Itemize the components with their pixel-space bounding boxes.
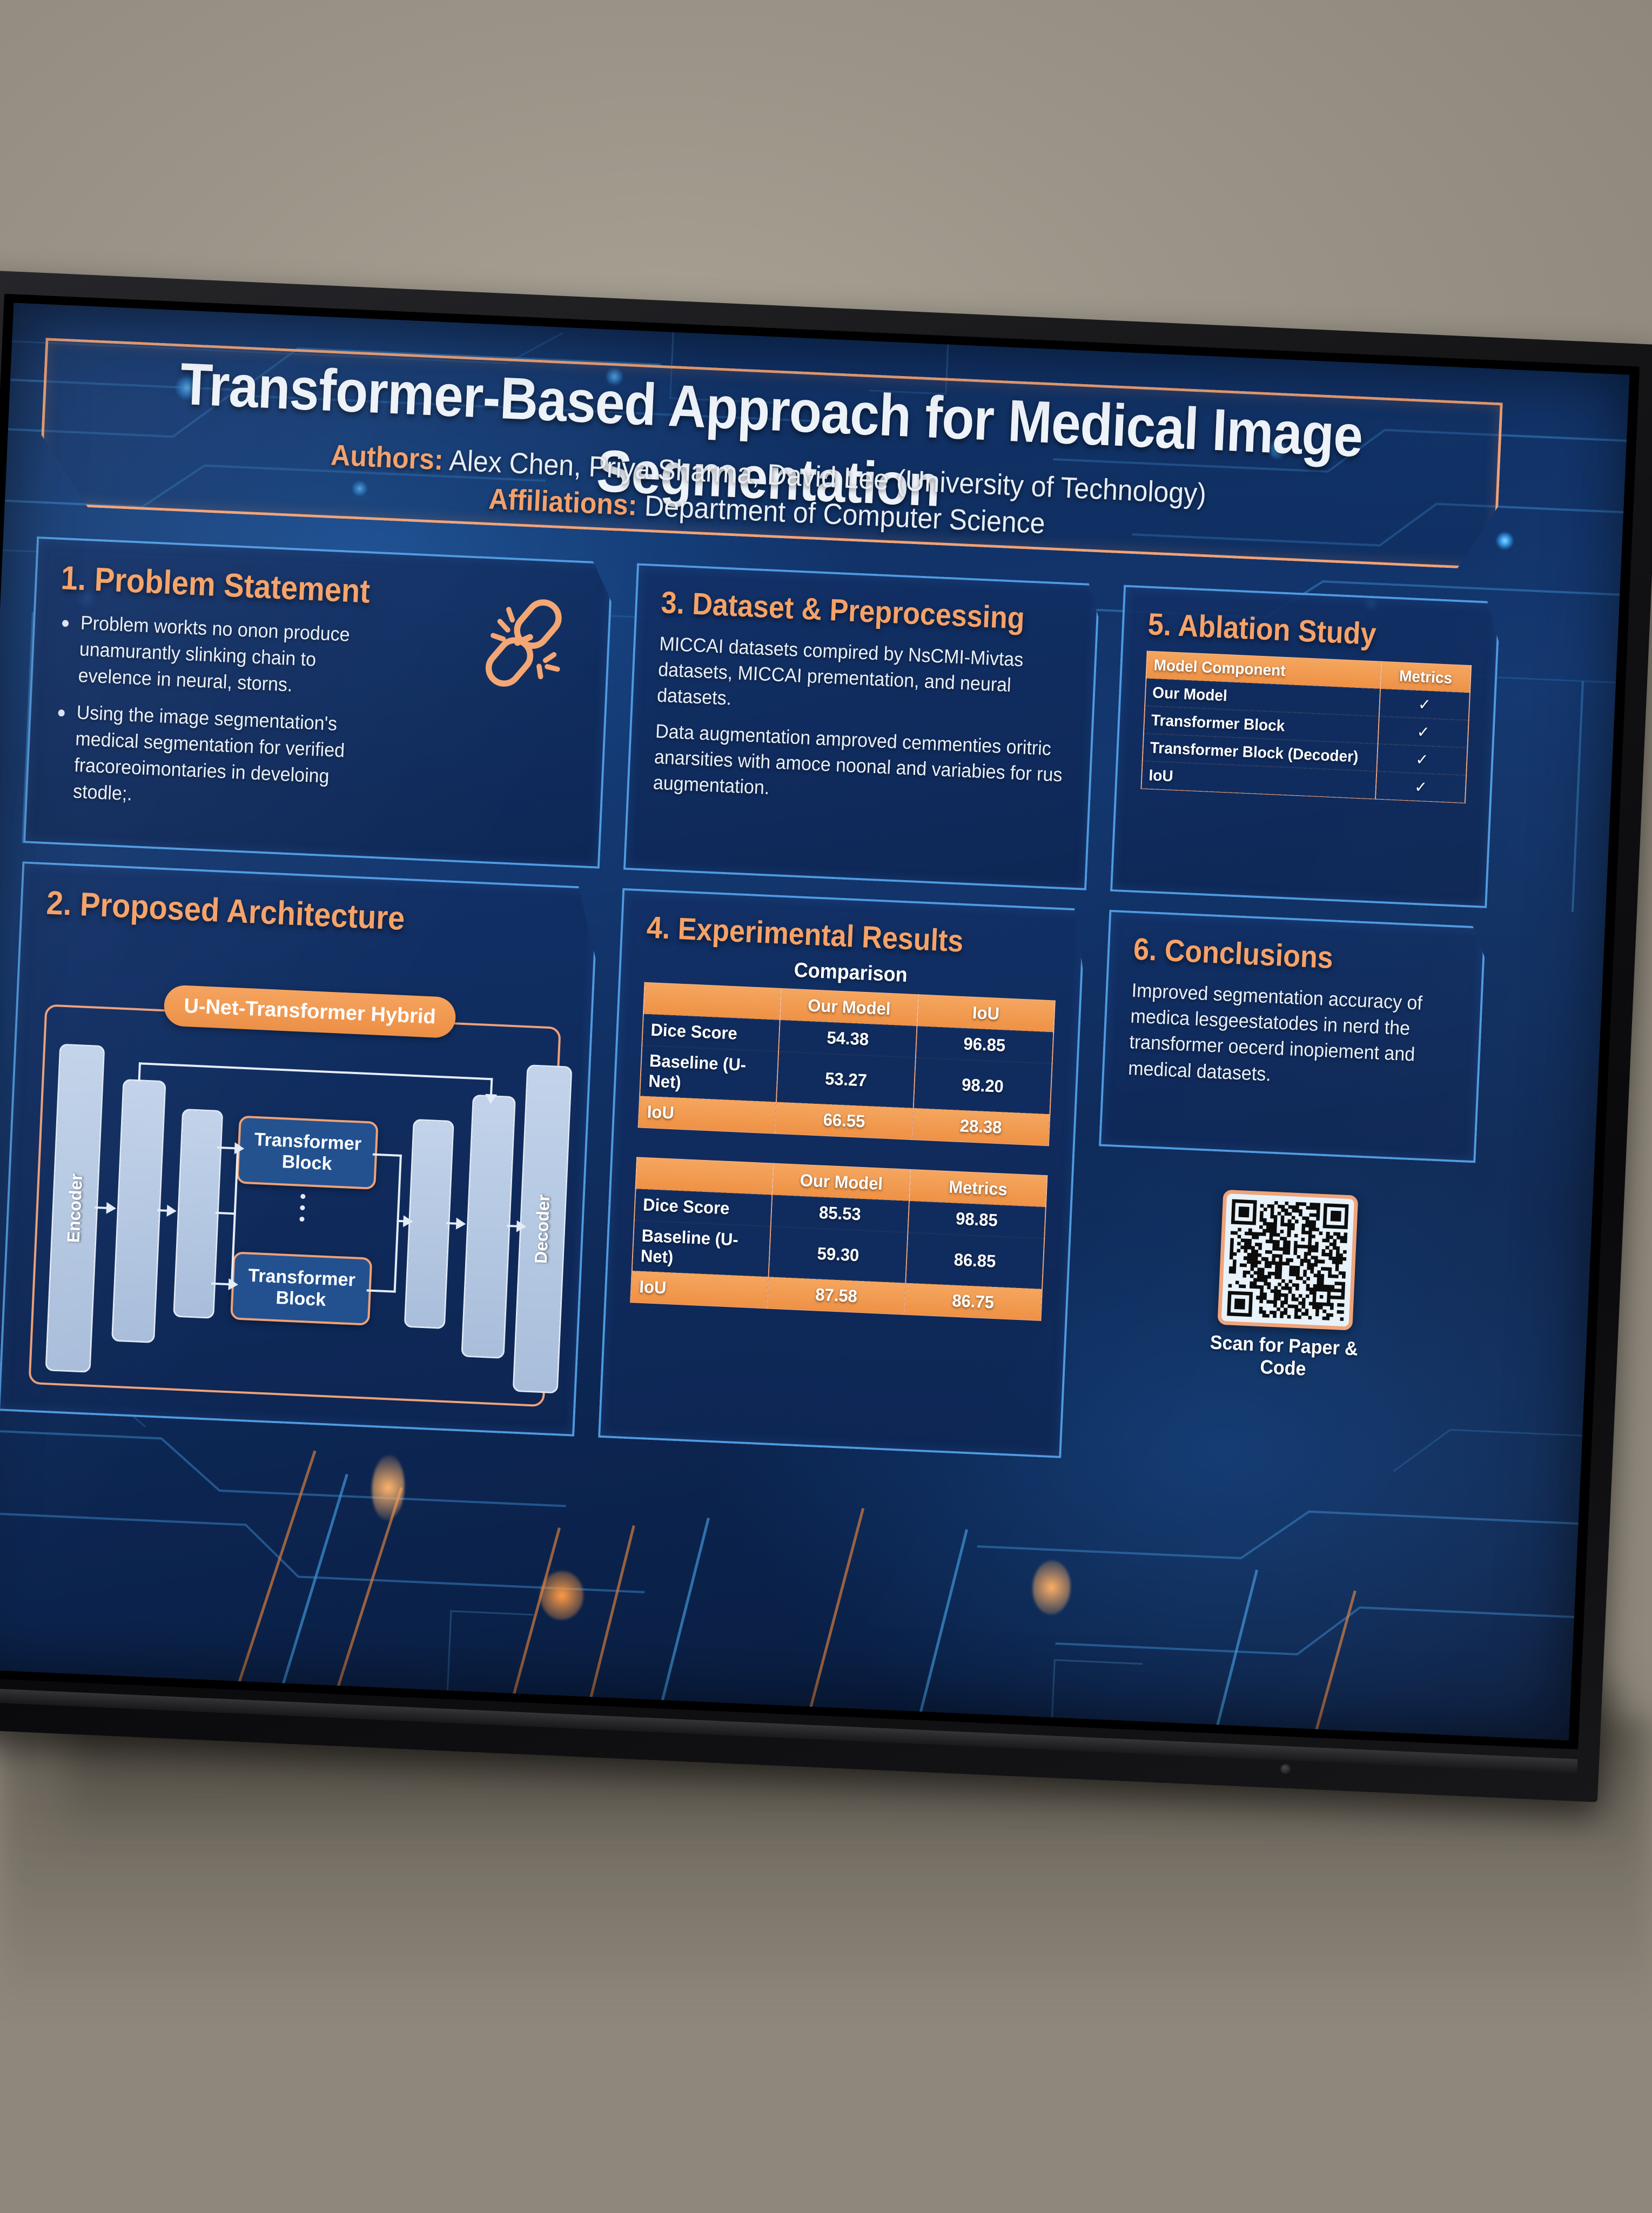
- checkmark-icon: ✓: [1375, 771, 1466, 803]
- power-led-indicator: [1279, 1763, 1292, 1775]
- transformer-block-bottom: Transformer Block: [230, 1251, 372, 1325]
- conclusions-paragraph: Improved segmentation accuracy of medica…: [1127, 978, 1457, 1096]
- row-label: Baseline (U-Net): [640, 1044, 778, 1103]
- decoder-label: Decoder: [531, 1194, 554, 1264]
- panel-dataset-title: 3. Dataset & Preprocessing: [660, 585, 1097, 640]
- qr-code-label: Scan for Paper & Code: [1201, 1331, 1365, 1383]
- row-label: Baseline (U-Net): [632, 1219, 771, 1278]
- panel-dataset-preprocessing: 3. Dataset & Preprocessing MICCAI datase…: [623, 563, 1100, 890]
- row-label: IoU: [639, 1095, 777, 1134]
- results-table-2: Our Model Metrics Dice Score 85.53 98.85…: [630, 1157, 1047, 1321]
- affiliations-label: Affiliations:: [488, 482, 637, 522]
- panel-proposed-architecture: 2. Proposed Architecture U-Net-Transform…: [0, 861, 599, 1437]
- dataset-paragraph-1: MICCAI datasets compired by NsCMI-Mivtas…: [656, 631, 1071, 727]
- cell-value: 28.38: [912, 1108, 1050, 1146]
- cell-value: 53.27: [776, 1050, 915, 1109]
- panel-ablation-study: 5. Ablation Study Model Component Metric…: [1110, 585, 1501, 908]
- qr-code-frame: [1217, 1190, 1358, 1331]
- transformer-block-bottom-line2: Block: [276, 1287, 326, 1310]
- architecture-diagram: U-Net-Transformer Hybrid Encoder Decoder: [23, 967, 570, 1417]
- wall-mounted-display: Transformer-Based Approach for Medical I…: [0, 270, 1652, 1802]
- encoder-label: Encoder: [64, 1173, 87, 1243]
- cell-value: 98.20: [913, 1056, 1052, 1115]
- cell-value: 86.75: [904, 1283, 1042, 1322]
- broken-chain-icon: [470, 589, 577, 696]
- cell-value: 87.58: [767, 1276, 905, 1315]
- poster-content: Transformer-Based Approach for Medical I…: [0, 303, 1629, 1741]
- ablation-table: Model Component Metrics Our Model ✓ Tran…: [1140, 651, 1472, 803]
- transformer-block-top-line2: Block: [281, 1151, 332, 1174]
- panel-experimental-results: 4. Experimental Results Comparison Our M…: [598, 888, 1085, 1458]
- transformer-block-top: Transformer Block: [236, 1116, 378, 1190]
- row-label: IoU: [630, 1270, 769, 1309]
- list-item: Using the image segmentation's medical s…: [51, 699, 390, 819]
- cell-value: 86.85: [905, 1231, 1044, 1290]
- panel-conclusions-title: 6. Conclusions: [1133, 931, 1483, 983]
- authors-label: Authors:: [330, 439, 444, 477]
- panel-conclusions: 6. Conclusions Improved segmentation acc…: [1099, 910, 1486, 1163]
- results-table-1: Our Model IoU Dice Score 54.38 96.85 Bas…: [638, 982, 1056, 1146]
- list-item: Problem workts no onon produce unamurant…: [56, 609, 394, 703]
- dataset-paragraph-2: Data augmentation amproved cemmenties or…: [653, 719, 1067, 815]
- transformer-block-bottom-line1: Transformer: [248, 1265, 356, 1291]
- panel-problem-statement: 1. Problem Statement Problem workts no o…: [23, 537, 613, 869]
- qr-code-block[interactable]: Scan for Paper & Code: [1201, 1189, 1372, 1382]
- cell-value: 59.30: [769, 1225, 908, 1284]
- display-screen: Transformer-Based Approach for Medical I…: [0, 303, 1629, 1741]
- cell-value: 66.55: [775, 1102, 914, 1141]
- transformer-block-top-line1: Transformer: [254, 1129, 362, 1155]
- problem-bullet-list: Problem workts no onon produce unamurant…: [51, 609, 394, 813]
- qr-code-image: [1227, 1199, 1348, 1321]
- panel-architecture-title: 2. Proposed Architecture: [45, 883, 595, 946]
